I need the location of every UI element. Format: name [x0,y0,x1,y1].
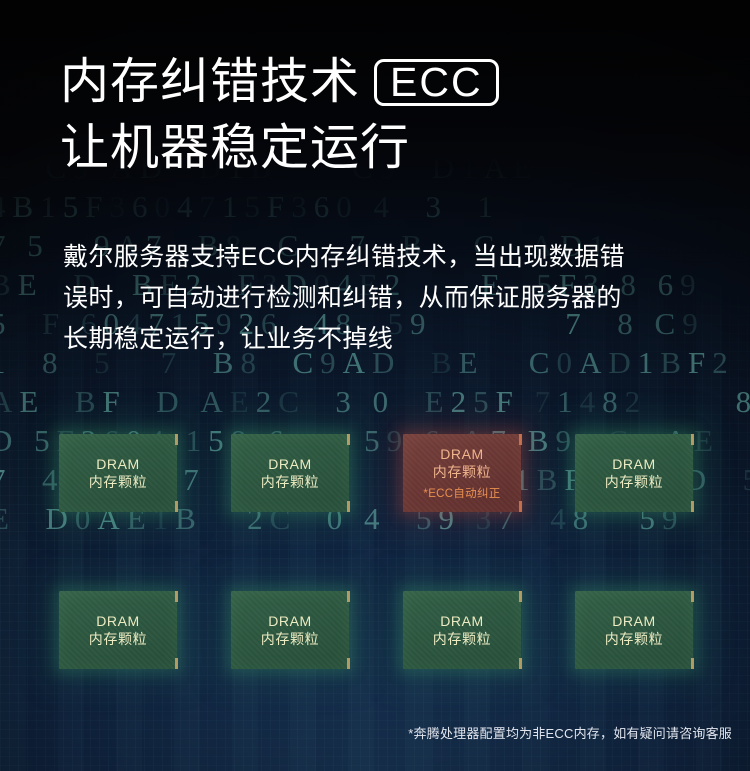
dram-chip: DRAM内存颗粒 [231,434,349,512]
chip-corner-marker-icon [175,434,178,445]
ecc-correction-note: *ECC自动纠正 [423,488,500,501]
title-line-2: 让机器稳定运行 [60,119,499,178]
footnote: *奔腾处理器配置均为非ECC内存，如有疑问请咨询客服 [408,726,732,742]
chip-corner-marker-icon [175,658,178,669]
dram-chip-subtitle: 内存颗粒 [261,473,319,491]
dram-chip-title: DRAM [440,446,484,463]
dram-chip-title: DRAM [96,456,140,473]
dram-chip-title: DRAM [268,456,312,473]
dram-chip: DRAM内存颗粒 [575,591,693,669]
description-line: 误时，可自动进行检测和纠错，从而保证服务器的 [63,278,683,319]
chip-corner-marker-icon [691,501,694,512]
chip-corner-marker-icon [519,591,522,602]
dram-chip-subtitle: 内存颗粒 [89,630,147,648]
dram-chip-subtitle: 内存颗粒 [433,630,491,648]
chip-corner-marker-icon [691,591,694,602]
dram-chip-subtitle: 内存颗粒 [261,630,319,648]
chip-corner-marker-icon [347,434,350,445]
chip-corner-marker-icon [347,501,350,512]
dram-chip-title: DRAM [96,613,140,630]
content-layer: 内存纠错技术 ECC 让机器稳定运行 戴尔服务器支持ECC内存纠错技术，当出现数… [0,0,750,771]
dram-chip-title: DRAM [268,613,312,630]
description-line: 戴尔服务器支持ECC内存纠错技术，当出现数据错 [63,237,683,278]
dram-chip: DRAM内存颗粒 [403,591,521,669]
dram-chip: DRAM内存颗粒 [231,591,349,669]
dram-chip-subtitle: 内存颗粒 [433,463,491,481]
title-text-primary: 内存纠错技术 [60,53,360,112]
chip-corner-marker-icon [691,658,694,669]
dram-chip-subtitle: 内存颗粒 [605,473,663,491]
chip-corner-marker-icon [519,434,522,445]
title-line-1: 内存纠错技术 ECC [60,53,499,112]
dram-chip-grid: DRAM内存颗粒DRAM内存颗粒DRAM内存颗粒*ECC自动纠正DRAM内存颗粒… [59,434,693,669]
dram-chip: DRAM内存颗粒 [59,591,177,669]
dram-chip-error: DRAM内存颗粒*ECC自动纠正 [403,434,521,512]
dram-chip: DRAM内存颗粒 [575,434,693,512]
chip-corner-marker-icon [347,591,350,602]
dram-chip-title: DRAM [440,613,484,630]
ecc-promo-page: E C9 AD D1B C9 D1AE4B15F3604715F360 4 3 … [0,0,750,771]
dram-chip-subtitle: 内存颗粒 [605,630,663,648]
chip-corner-marker-icon [691,434,694,445]
ecc-badge: ECC [374,59,499,106]
dram-chip: DRAM内存颗粒 [59,434,177,512]
description-line: 长期稳定运行，让业务不掉线 [63,319,683,360]
dram-chip-subtitle: 内存颗粒 [89,473,147,491]
dram-chip-title: DRAM [612,456,656,473]
dram-chip-title: DRAM [612,613,656,630]
page-title: 内存纠错技术 ECC 让机器稳定运行 [60,53,499,178]
chip-corner-marker-icon [175,501,178,512]
chip-corner-marker-icon [175,591,178,602]
chip-corner-marker-icon [347,658,350,669]
chip-corner-marker-icon [519,501,522,512]
chip-corner-marker-icon [519,658,522,669]
description-paragraph: 戴尔服务器支持ECC内存纠错技术，当出现数据错 误时，可自动进行检测和纠错，从而… [63,237,683,360]
